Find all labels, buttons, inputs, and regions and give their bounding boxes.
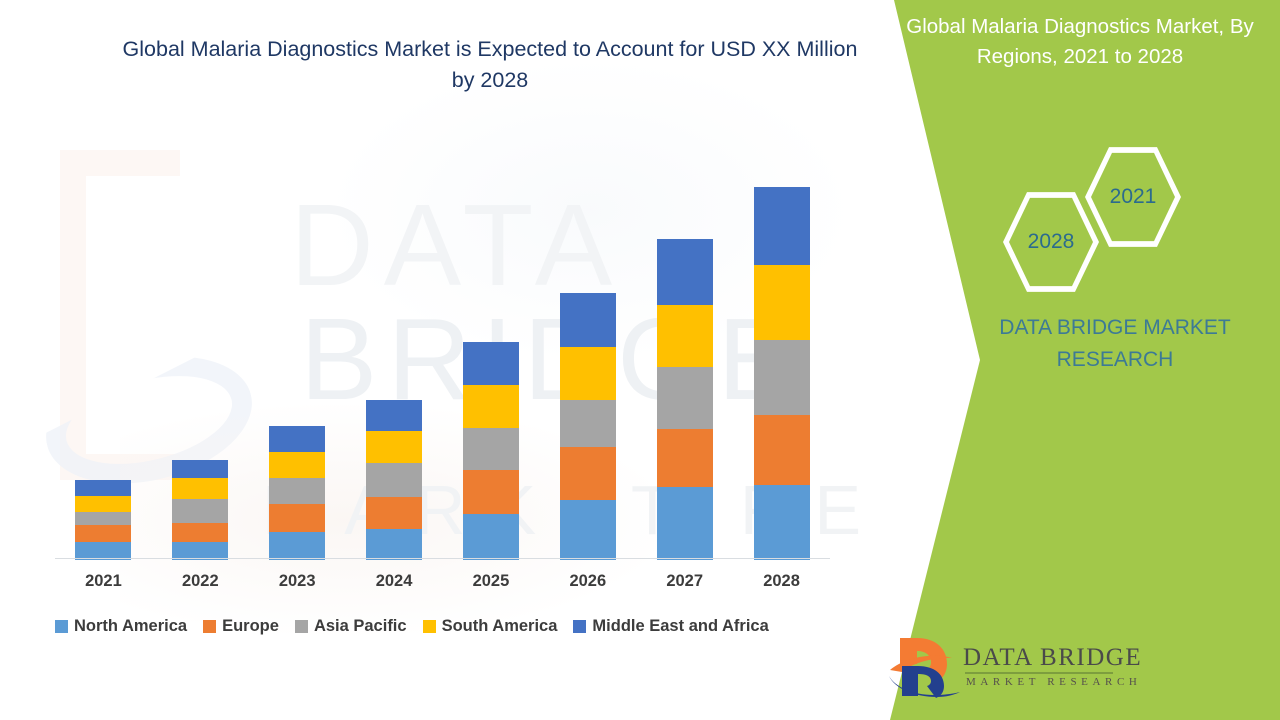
bar-group[interactable] xyxy=(463,342,519,560)
x-axis-tick-label: 2028 xyxy=(734,572,830,591)
bar-segment[interactable] xyxy=(366,463,422,497)
x-axis-tick-label: 2024 xyxy=(346,572,442,591)
legend-swatch-icon xyxy=(295,620,308,633)
hexagon-2021-label: 2021 xyxy=(1091,151,1175,243)
bar-segment[interactable] xyxy=(657,305,713,367)
bar-segment[interactable] xyxy=(754,340,810,415)
bar-segment[interactable] xyxy=(269,532,325,560)
x-axis-tick-label: 2023 xyxy=(249,572,345,591)
bar-chart-plot xyxy=(55,150,830,560)
logo-subtitle: MARKET RESEARCH xyxy=(966,676,1141,688)
legend-label: Asia Pacific xyxy=(314,617,407,636)
bar-segment[interactable] xyxy=(560,347,616,400)
company-logo: DATA BRIDGE MARKET RESEARCH xyxy=(888,636,1118,702)
legend-item[interactable]: North America xyxy=(55,617,187,636)
legend-swatch-icon xyxy=(423,620,436,633)
bar-group[interactable] xyxy=(560,293,616,560)
bar-segment[interactable] xyxy=(172,523,228,542)
bar-segment[interactable] xyxy=(657,367,713,429)
legend-item[interactable]: Middle East and Africa xyxy=(573,617,768,636)
legend-item[interactable]: South America xyxy=(423,617,558,636)
bar-segment[interactable] xyxy=(560,447,616,500)
bar-group[interactable] xyxy=(657,239,713,560)
bar-segment[interactable] xyxy=(754,187,810,265)
panel-title: Global Malaria Diagnostics Market, By Re… xyxy=(880,12,1280,72)
bar-group[interactable] xyxy=(754,187,810,560)
legend-label: Middle East and Africa xyxy=(592,617,768,636)
logo-title: DATA BRIDGE xyxy=(963,644,1142,672)
bar-segment[interactable] xyxy=(75,512,131,525)
legend-item[interactable]: Europe xyxy=(203,617,279,636)
bar-segment[interactable] xyxy=(463,470,519,514)
x-axis-tick-label: 2025 xyxy=(443,572,539,591)
x-axis-tick-label: 2022 xyxy=(152,572,248,591)
bar-segment[interactable] xyxy=(754,265,810,340)
legend-swatch-icon xyxy=(573,620,586,633)
bar-segment[interactable] xyxy=(366,400,422,431)
bar-segment[interactable] xyxy=(657,239,713,305)
bar-segment[interactable] xyxy=(366,529,422,560)
bar-group[interactable] xyxy=(366,400,422,560)
bar-segment[interactable] xyxy=(366,497,422,529)
bar-segment[interactable] xyxy=(754,415,810,485)
x-axis-line xyxy=(55,558,830,559)
bar-segment[interactable] xyxy=(75,480,131,496)
bar-segment[interactable] xyxy=(269,452,325,478)
bar-segment[interactable] xyxy=(269,504,325,532)
bar-segment[interactable] xyxy=(463,385,519,428)
bar-segment[interactable] xyxy=(657,487,713,560)
x-axis-labels: 20212022202320242025202620272028 xyxy=(55,572,830,600)
infographic-root: DATA BRIDGE MARKET RESEARCH Global Malar… xyxy=(0,0,1280,720)
bar-segment[interactable] xyxy=(269,426,325,452)
bar-segment[interactable] xyxy=(172,478,228,499)
legend-label: North America xyxy=(74,617,187,636)
brand-name: DATA BRIDGE MARKET RESEARCH xyxy=(960,312,1270,376)
legend-swatch-icon xyxy=(203,620,216,633)
x-axis-tick-label: 2027 xyxy=(637,572,733,591)
page-title: Global Malaria Diagnostics Market is Exp… xyxy=(110,34,870,96)
bar-segment[interactable] xyxy=(560,400,616,447)
bar-segment[interactable] xyxy=(754,485,810,560)
x-axis-tick-label: 2026 xyxy=(540,572,636,591)
bar-segment[interactable] xyxy=(172,499,228,523)
bar-segment[interactable] xyxy=(75,496,131,512)
bar-segment[interactable] xyxy=(269,478,325,504)
logo-divider xyxy=(965,672,1113,674)
bar-segment[interactable] xyxy=(463,514,519,560)
bar-group[interactable] xyxy=(75,480,131,560)
bar-segment[interactable] xyxy=(463,342,519,385)
legend-label: Europe xyxy=(222,617,279,636)
bar-segment[interactable] xyxy=(463,428,519,470)
legend-label: South America xyxy=(442,617,558,636)
bar-group[interactable] xyxy=(172,460,228,560)
x-axis-tick-label: 2021 xyxy=(55,572,151,591)
hexagon-2028-label: 2028 xyxy=(1009,196,1093,288)
bar-segment[interactable] xyxy=(560,500,616,560)
databridge-b-icon xyxy=(888,636,963,698)
bar-segment[interactable] xyxy=(366,431,422,463)
legend-item[interactable]: Asia Pacific xyxy=(295,617,407,636)
legend-swatch-icon xyxy=(55,620,68,633)
bar-segment[interactable] xyxy=(172,460,228,478)
bar-segment[interactable] xyxy=(75,525,131,542)
bar-group[interactable] xyxy=(269,426,325,560)
bar-segment[interactable] xyxy=(657,429,713,487)
bar-segment[interactable] xyxy=(560,293,616,347)
chart-legend: North AmericaEuropeAsia PacificSouth Ame… xyxy=(55,617,785,636)
